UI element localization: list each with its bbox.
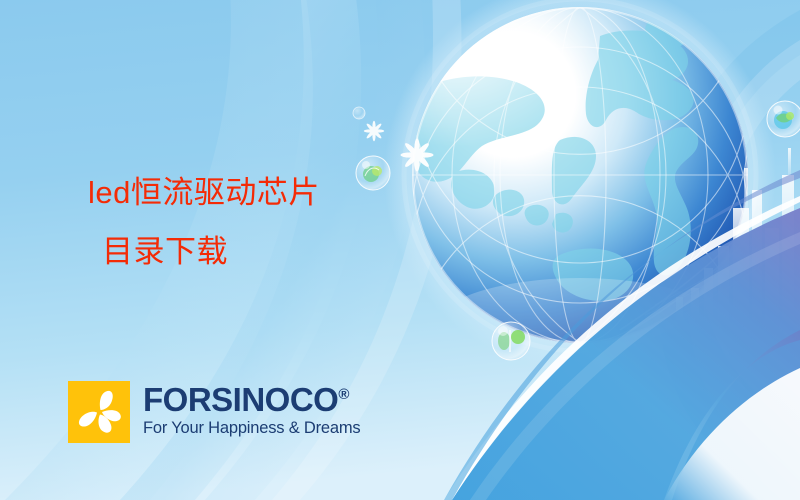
company-logo: FORSINOCO® For Your Happiness & Dreams bbox=[68, 381, 360, 443]
logo-wordmark-text: FORSINOCO bbox=[143, 381, 338, 418]
logo-text-block: FORSINOCO® For Your Happiness & Dreams bbox=[143, 381, 360, 438]
registered-trademark-icon: ® bbox=[338, 386, 349, 403]
banner-image: led恒流驱动芯片 目录下载 FORSINOCO® For Your Happi… bbox=[0, 0, 800, 500]
logo-tagline: For Your Happiness & Dreams bbox=[143, 419, 360, 438]
logo-wordmark: FORSINOCO® bbox=[143, 383, 360, 417]
logo-mark-tile bbox=[68, 381, 130, 443]
four-petal-pinwheel-icon bbox=[68, 381, 130, 443]
